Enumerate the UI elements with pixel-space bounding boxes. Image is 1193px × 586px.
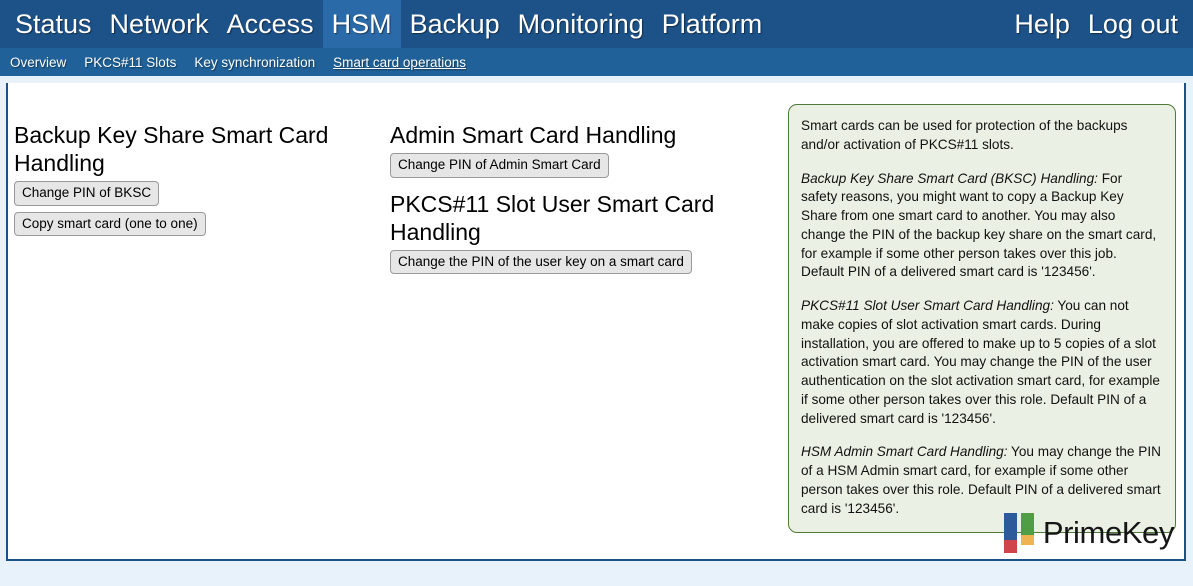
subnav-item-key-synchronization[interactable]: Key synchronization — [194, 55, 315, 70]
backup-key-share-section: Backup Key Share Smart Card Handling Cha… — [14, 121, 396, 242]
info-text-intro: Smart cards can be used for protection o… — [801, 118, 1127, 152]
nav-item-status[interactable]: Status — [6, 0, 101, 48]
app-page: Status Network Access HSM Backup Monitor… — [0, 0, 1193, 586]
info-lead-pkcs11: PKCS#11 Slot User Smart Card Handling: — [801, 298, 1054, 313]
change-pin-admin-smart-card-button[interactable]: Change PIN of Admin Smart Card — [390, 153, 609, 178]
logo-bar-left — [1004, 513, 1017, 553]
primekey-logo: PrimeKey — [1004, 513, 1174, 553]
info-lead-bksc: Backup Key Share Smart Card (BKSC) Handl… — [801, 171, 1098, 186]
top-navigation-right-group: Help Log out — [1005, 0, 1187, 48]
subnav-item-pkcs11-slots[interactable]: PKCS#11 Slots — [84, 55, 176, 70]
info-paragraph-pkcs11: PKCS#11 Slot User Smart Card Handling: Y… — [801, 297, 1161, 428]
logo-segment-red — [1004, 540, 1017, 553]
top-navigation-bar: Status Network Access HSM Backup Monitor… — [0, 0, 1193, 48]
change-pin-user-key-button[interactable]: Change the PIN of the user key on a smar… — [390, 250, 692, 275]
nav-item-backup[interactable]: Backup — [401, 0, 509, 48]
nav-item-access[interactable]: Access — [218, 0, 323, 48]
info-paragraph-bksc: Backup Key Share Smart Card (BKSC) Handl… — [801, 170, 1161, 283]
info-text-pkcs11: You can not make copies of slot activati… — [801, 298, 1160, 426]
logo-bar-right — [1021, 513, 1034, 545]
primekey-logo-text: PrimeKey — [1043, 515, 1174, 551]
info-paragraph-intro: Smart cards can be used for protection o… — [801, 117, 1161, 155]
logo-segment-blue — [1004, 513, 1017, 540]
nav-item-hsm[interactable]: HSM — [323, 0, 401, 48]
copy-smart-card-button[interactable]: Copy smart card (one to one) — [14, 212, 206, 237]
copy-smart-card-row: Copy smart card (one to one) — [14, 212, 396, 243]
info-paragraph-hsm-admin: HSM Admin Smart Card Handling: You may c… — [801, 443, 1161, 518]
admin-and-slot-sections: Admin Smart Card Handling Change PIN of … — [390, 121, 720, 280]
change-pin-bksc-button[interactable]: Change PIN of BKSC — [14, 181, 159, 206]
sub-navigation-bar: Overview PKCS#11 Slots Key synchronizati… — [0, 48, 1193, 76]
change-pin-admin-row: Change PIN of Admin Smart Card — [390, 153, 720, 184]
content-inner: Backup Key Share Smart Card Handling Cha… — [8, 83, 1184, 559]
info-text-bksc: For safety reasons, you might want to co… — [801, 171, 1156, 280]
subnav-item-overview[interactable]: Overview — [10, 55, 66, 70]
backup-key-share-title: Backup Key Share Smart Card Handling — [14, 121, 396, 177]
primekey-logo-mark-icon — [1004, 513, 1034, 553]
change-pin-user-key-row: Change the PIN of the user key on a smar… — [390, 250, 720, 281]
info-lead-hsm-admin: HSM Admin Smart Card Handling: — [801, 444, 1008, 459]
nav-item-monitoring[interactable]: Monitoring — [509, 0, 653, 48]
nav-item-help[interactable]: Help — [1005, 0, 1079, 48]
change-pin-bksc-row: Change PIN of BKSC — [14, 181, 396, 212]
info-panel: Smart cards can be used for protection o… — [788, 104, 1176, 533]
content-frame: Backup Key Share Smart Card Handling Cha… — [6, 83, 1186, 561]
subnav-item-smart-card-operations[interactable]: Smart card operations — [333, 55, 466, 70]
logo-segment-green — [1021, 513, 1034, 535]
nav-item-network[interactable]: Network — [101, 0, 218, 48]
logo-segment-orange — [1021, 535, 1034, 545]
pkcs11-slot-user-title: PKCS#11 Slot User Smart Card Handling — [390, 190, 720, 246]
top-navigation-left-group: Status Network Access HSM Backup Monitor… — [6, 0, 771, 48]
nav-item-logout[interactable]: Log out — [1079, 0, 1187, 48]
nav-item-platform[interactable]: Platform — [653, 0, 772, 48]
admin-smart-card-title: Admin Smart Card Handling — [390, 121, 720, 149]
